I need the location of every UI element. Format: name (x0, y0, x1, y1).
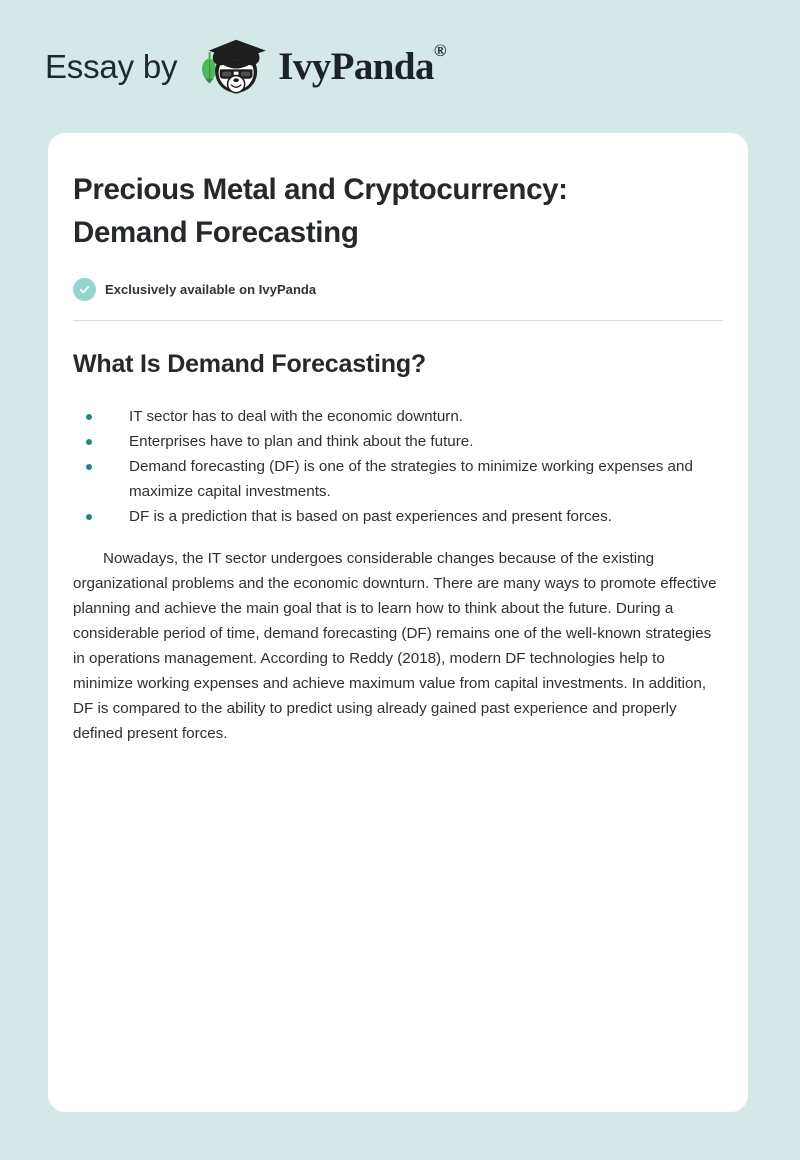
list-item: Demand forecasting (DF) is one of the st… (73, 454, 723, 504)
exclusive-availability-badge: Exclusively available on IvyPanda (73, 278, 723, 301)
key-points-list: IT sector has to deal with the economic … (73, 404, 723, 529)
list-item: DF is a prediction that is based on past… (73, 504, 723, 529)
registered-trademark-mark: ® (434, 41, 446, 60)
exclusive-availability-label: Exclusively available on IvyPanda (105, 282, 316, 297)
section-heading: What Is Demand Forecasting? (73, 350, 723, 379)
ivypanda-logo[interactable]: IvyPanda® (194, 35, 446, 99)
brand-name-text: IvyPanda (278, 45, 434, 88)
body-paragraph: Nowadays, the IT sector undergoes consid… (73, 546, 723, 746)
list-item: IT sector has to deal with the economic … (73, 404, 723, 429)
header-divider (73, 320, 723, 321)
page-title: Precious Metal and Cryptocurrency: Deman… (73, 169, 685, 255)
brand-header: Essay by (0, 0, 800, 133)
essay-by-label: Essay by (45, 50, 177, 83)
list-item: Enterprises have to plan and think about… (73, 429, 723, 454)
ivypanda-wordmark: IvyPanda® (278, 47, 446, 86)
check-circle-icon (73, 278, 96, 301)
ivypanda-panda-logo-icon (194, 35, 272, 99)
document-card: Precious Metal and Cryptocurrency: Deman… (48, 133, 748, 1112)
